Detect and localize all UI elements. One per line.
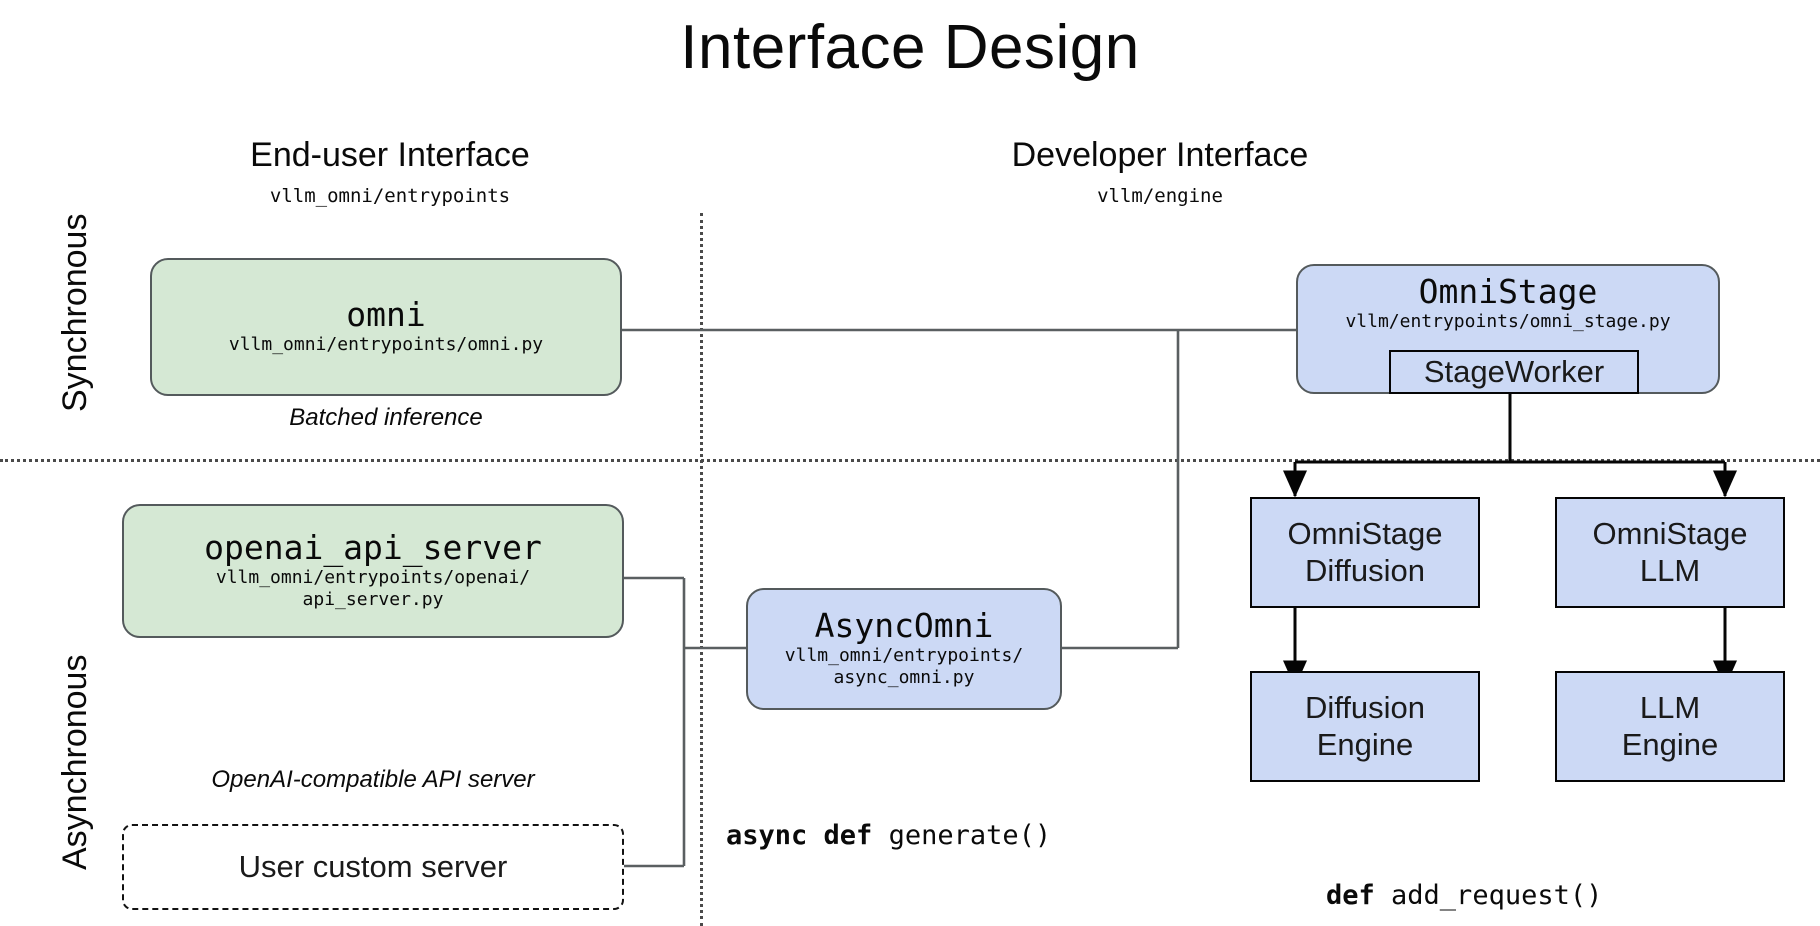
node-omnistage-llm-line1: OmniStage (1592, 516, 1747, 553)
kw-def-1: def (1326, 880, 1375, 911)
code-line-generate: async def generate() (726, 819, 1116, 854)
caption-openai-compatible: OpenAI-compatible API server (122, 766, 624, 794)
diagram-canvas: Interface Design End-user Interface vllm… (0, 0, 1820, 926)
node-openai-api-server[interactable]: openai_api_server vllm_omni/entrypoints/… (122, 504, 624, 638)
code-block-async-api: async def generate() async def abort() +… (726, 750, 1116, 926)
column-heading-developer: Developer Interface (800, 138, 1520, 174)
column-subtitle-developer: vllm/engine (800, 185, 1520, 207)
column-heading-end-user: End-user Interface (130, 138, 650, 174)
caption-batched-inference: Batched inference (150, 404, 622, 432)
node-stage-worker-label: StageWorker (1424, 354, 1604, 391)
node-openai-api-server-path-line2: api_server.py (303, 589, 444, 612)
node-omni-path: vllm_omni/entrypoints/omni.py (229, 334, 543, 357)
page-title: Interface Design (0, 14, 1820, 82)
node-user-custom-server[interactable]: User custom server (122, 824, 624, 910)
node-async-omni-title: AsyncOmni (815, 608, 994, 645)
node-omnistage-diffusion-line1: OmniStage (1287, 516, 1442, 553)
node-async-omni-path-line1: vllm_omni/entrypoints/ (785, 645, 1023, 668)
node-omnistage-diffusion[interactable]: OmniStage Diffusion (1250, 497, 1480, 608)
node-omnistage-llm-line2: LLM (1640, 553, 1700, 590)
node-diffusion-engine-line1: Diffusion (1305, 690, 1425, 727)
node-async-omni-path-line2: async_omni.py (834, 667, 975, 690)
column-subtitle-end-user: vllm_omni/entrypoints (130, 185, 650, 207)
node-stage-worker[interactable]: StageWorker (1389, 350, 1639, 394)
kw-async-def-1: async def (726, 820, 872, 851)
node-llm-engine[interactable]: LLM Engine (1555, 671, 1785, 782)
side-label-synchronous: Synchronous (56, 214, 95, 412)
side-label-asynchronous: Asynchronous (56, 655, 95, 870)
node-openai-api-server-path-line1: vllm_omni/entrypoints/openai/ (216, 567, 530, 590)
node-user-custom-server-title: User custom server (239, 849, 508, 886)
vertical-divider (700, 213, 703, 926)
code-add-request: add_request() (1375, 880, 1603, 911)
node-omnistage-llm[interactable]: OmniStage LLM (1555, 497, 1785, 608)
node-async-omni[interactable]: AsyncOmni vllm_omni/entrypoints/ async_o… (746, 588, 1062, 710)
code-line-add-request: def add_request() (1326, 879, 1635, 914)
horizontal-divider (0, 459, 1820, 462)
node-omnistage-diffusion-line2: Diffusion (1305, 553, 1425, 590)
node-openai-api-server-title: openai_api_server (204, 530, 542, 567)
code-block-engine-api: def add_request() def abort_request() de… (1326, 810, 1635, 926)
node-llm-engine-line1: LLM (1640, 690, 1700, 727)
node-llm-engine-line2: Engine (1622, 727, 1719, 764)
node-omni-stage-path: vllm/entrypoints/omni_stage.py (1345, 311, 1670, 334)
code-generate: generate() (872, 820, 1051, 851)
node-omni-stage-title: OmniStage (1419, 274, 1598, 311)
node-omni-title: omni (346, 297, 425, 334)
node-omni[interactable]: omni vllm_omni/entrypoints/omni.py (150, 258, 622, 396)
node-diffusion-engine[interactable]: Diffusion Engine (1250, 671, 1480, 782)
node-diffusion-engine-line2: Engine (1317, 727, 1414, 764)
